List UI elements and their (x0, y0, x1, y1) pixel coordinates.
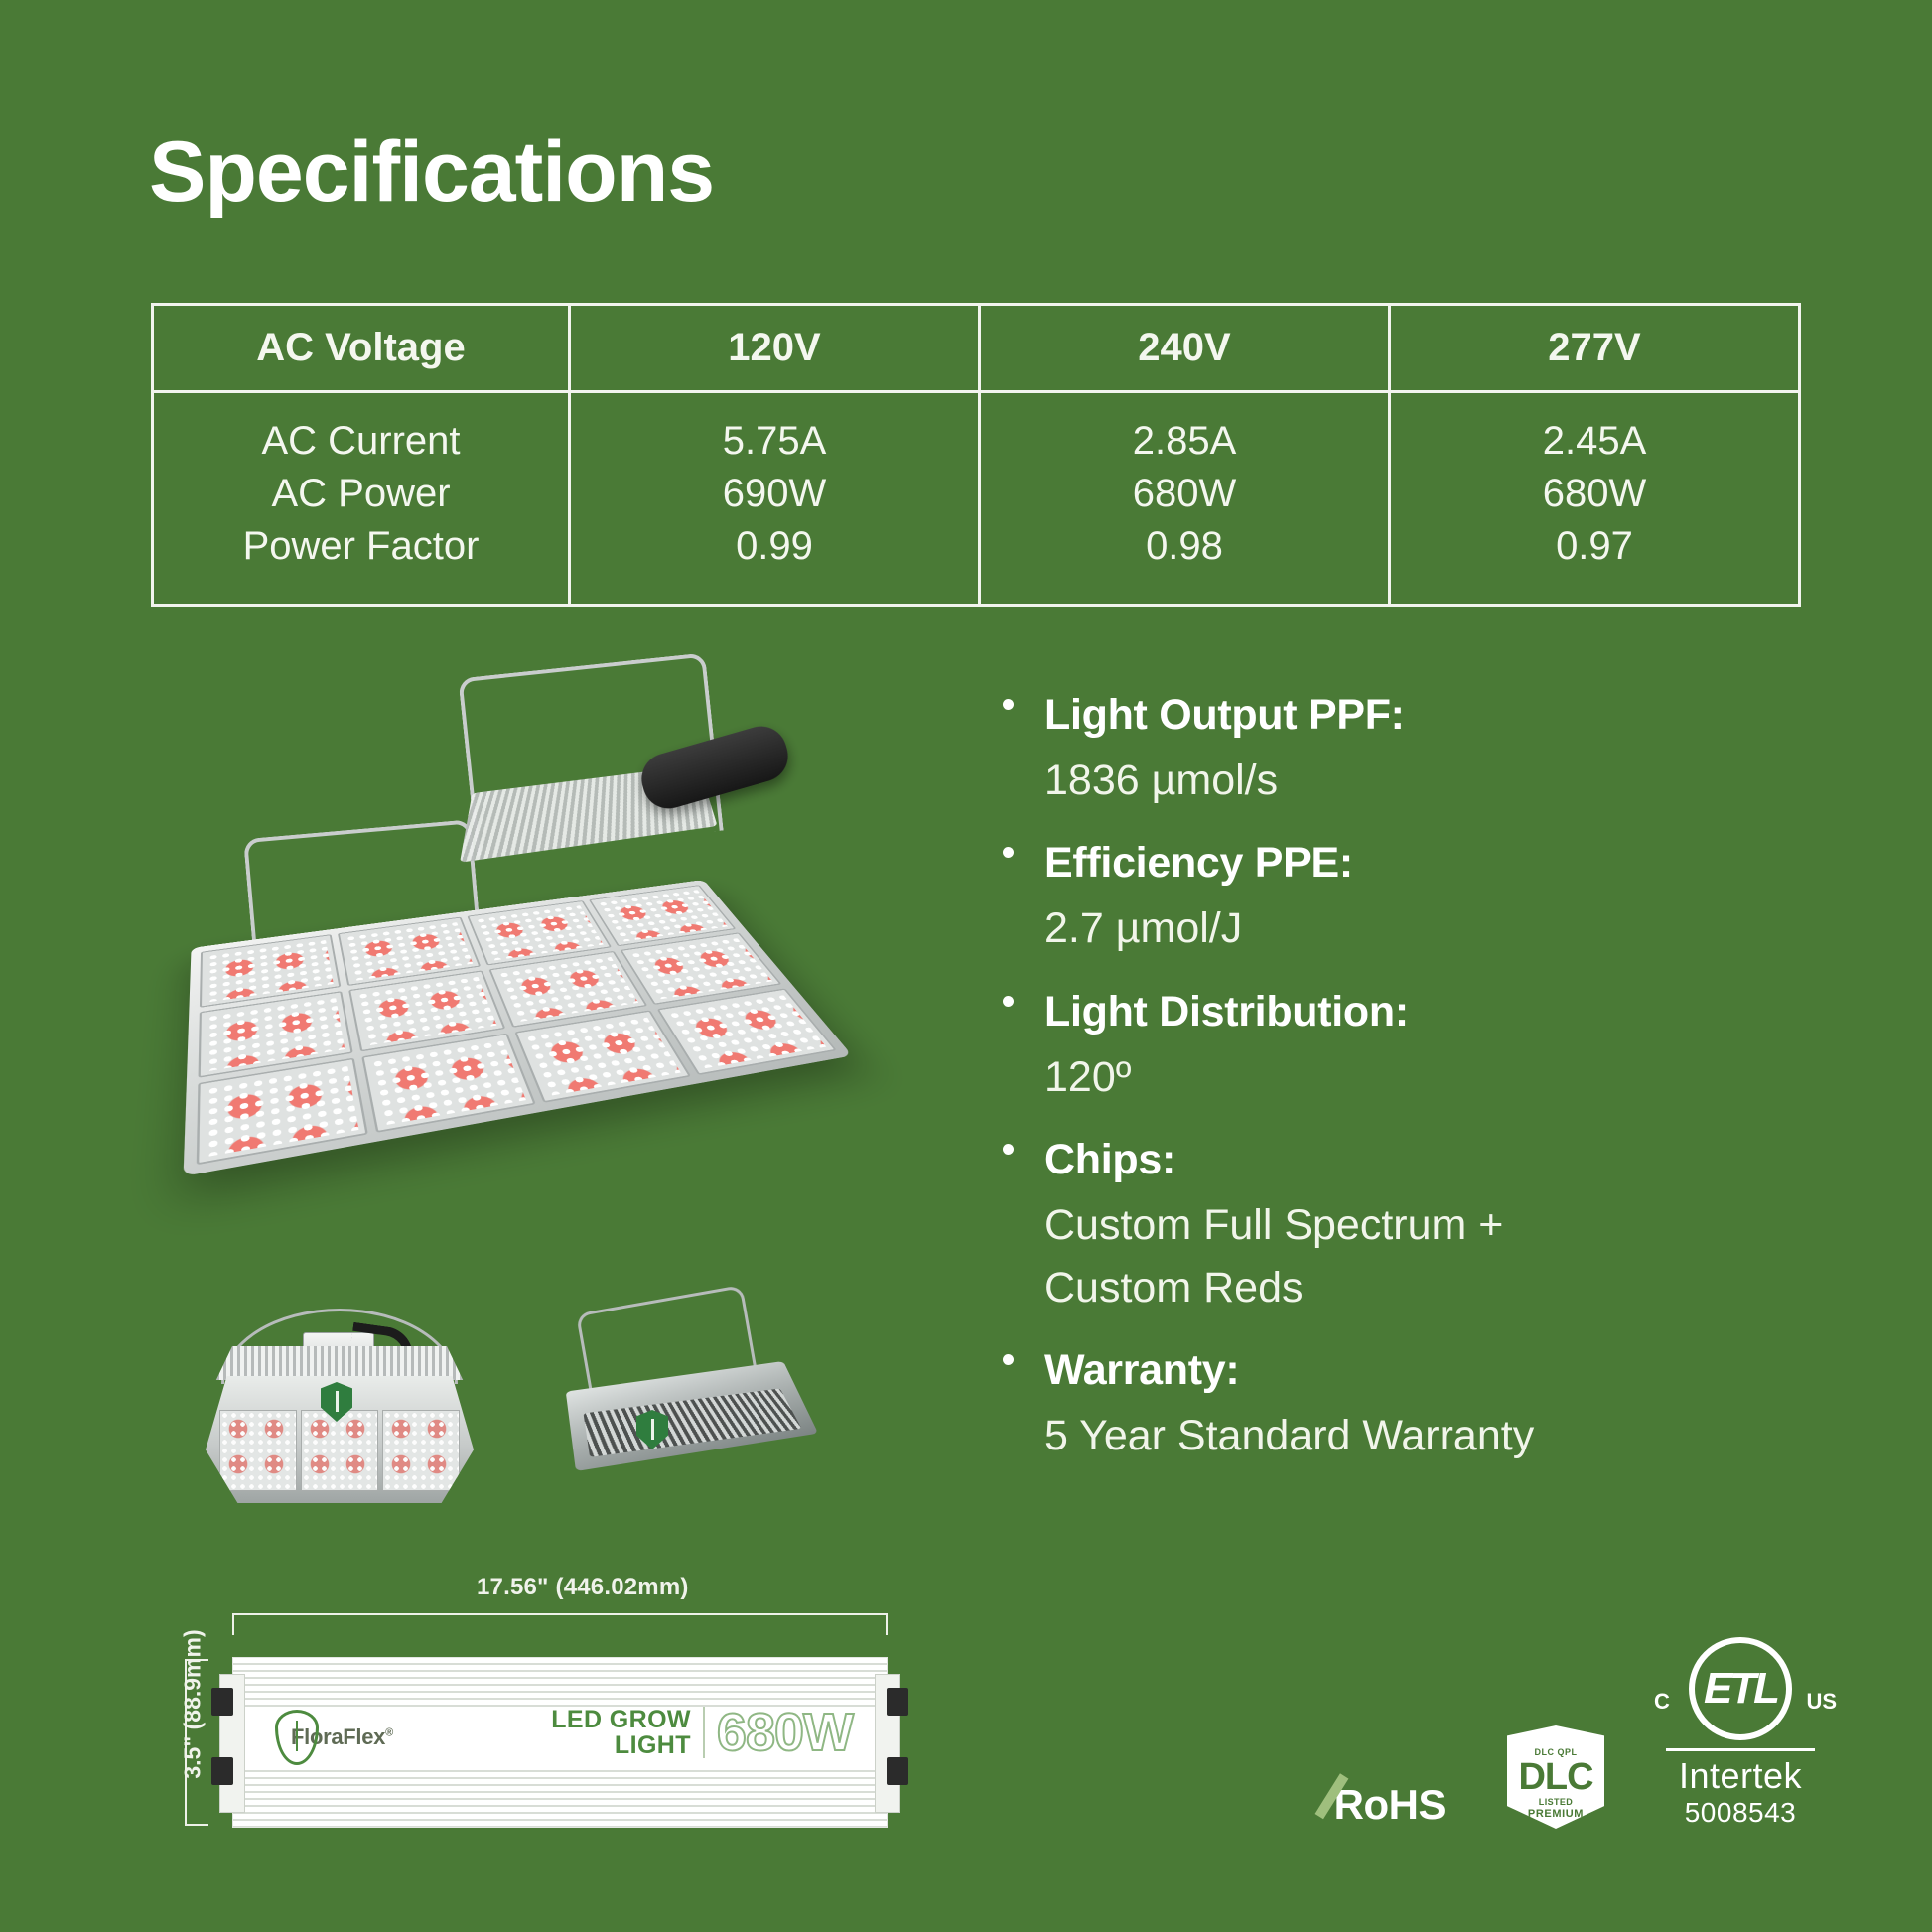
table-body-row: AC Current AC Power Power Factor 5.75A 6… (153, 392, 1800, 606)
header-277v: 277V (1390, 305, 1800, 392)
mounting-bolt (887, 1757, 908, 1785)
driver-fins-top (233, 1658, 887, 1708)
etl-us-mark: US (1806, 1689, 1837, 1715)
dlc-premium-text: PREMIUM (1528, 1808, 1584, 1820)
feature-value: 120º (1044, 1046, 1799, 1108)
header-120v: 120V (570, 305, 980, 392)
heat-sink-fins (206, 1346, 474, 1380)
led-grow-light-text: LED GROW LIGHT (551, 1707, 691, 1758)
feature-label: Warranty: (1044, 1340, 1799, 1401)
dlc-main-text: DLC (1518, 1758, 1592, 1796)
wattage-text: 680W (717, 1706, 853, 1759)
feature-list: Light Output PPF: 1836 µmol/s Efficiency… (1044, 685, 1799, 1488)
list-item-light-output: Light Output PPF: 1836 µmol/s (1044, 685, 1799, 811)
mounting-bolt (887, 1688, 908, 1716)
product-photo-front-view (184, 1291, 491, 1519)
dlc-listed-text: LISTED (1539, 1797, 1573, 1807)
bullet-icon (1003, 1354, 1014, 1365)
intertek-number: 5008543 (1666, 1797, 1815, 1829)
feature-value: Custom Full Spectrum + Custom Reds (1044, 1194, 1799, 1318)
specifications-table: AC Voltage 120V 240V 277V AC Current AC … (151, 303, 1801, 607)
dimension-width-label: 17.56" (446.02mm) (477, 1574, 689, 1601)
bullet-icon (1003, 1144, 1014, 1155)
cell-values-120v: 5.75A 690W 0.99 (570, 392, 980, 606)
list-item-light-distribution: Light Distribution: 120º (1044, 982, 1799, 1108)
feature-value: 1836 µmol/s (1044, 750, 1799, 811)
cell-values-277v: 2.45A 680W 0.97 (1390, 392, 1800, 606)
etl-c-mark: C (1654, 1689, 1670, 1715)
product-photo-side-view (541, 1291, 829, 1519)
certification-badges: RoHS DLC QPL DLC LISTED PREMIUM C US ETL… (1334, 1637, 1815, 1829)
list-item-chips: Chips: Custom Full Spectrum + Custom Red… (1044, 1130, 1799, 1318)
rohs-badge: RoHS (1334, 1781, 1446, 1829)
page-title: Specifications (149, 129, 714, 214)
feature-label: Efficiency PPE: (1044, 833, 1799, 894)
feature-value: 2.7 µmol/J (1044, 897, 1799, 959)
led-panel (514, 1011, 692, 1103)
mounting-bolt (211, 1688, 233, 1716)
dlc-premium-badge: DLC QPL DLC LISTED PREMIUM (1507, 1725, 1604, 1829)
etl-logo-icon: ETL (1689, 1637, 1792, 1740)
bullet-icon (1003, 996, 1014, 1007)
product-photo-hero (139, 655, 854, 1311)
led-panel (361, 1034, 535, 1133)
cell-values-240v: 2.85A 680W 0.98 (980, 392, 1390, 606)
led-panel (657, 989, 837, 1075)
led-panel (219, 1410, 297, 1491)
floraflex-logo: FloraFlex® (275, 1710, 393, 1765)
dimension-width-bracket (232, 1613, 888, 1635)
driver-fins-bottom (233, 1765, 887, 1827)
feature-label: Light Output PPF: (1044, 685, 1799, 746)
cell-row-labels: AC Current AC Power Power Factor (153, 392, 570, 606)
list-item-efficiency: Efficiency PPE: 2.7 µmol/J (1044, 833, 1799, 959)
table-header-row: AC Voltage 120V 240V 277V (153, 305, 1800, 392)
led-panel (197, 1058, 368, 1165)
divider (703, 1707, 705, 1758)
list-item-warranty: Warranty: 5 Year Standard Warranty (1044, 1340, 1799, 1466)
bullet-icon (1003, 699, 1014, 710)
led-panel (382, 1410, 460, 1491)
rohs-label: RoHS (1334, 1781, 1446, 1829)
intertek-label: Intertek (1666, 1755, 1815, 1797)
etl-intertek-badge: C US ETL Intertek 5008543 (1666, 1637, 1815, 1829)
driver-product-render: FloraFlex® LED GROW LIGHT 680W (232, 1657, 888, 1828)
mounting-bolt (211, 1757, 233, 1785)
header-ac-voltage: AC Voltage (153, 305, 570, 392)
feature-label: Chips: (1044, 1130, 1799, 1190)
leaf-icon (275, 1710, 319, 1765)
divider (1666, 1748, 1815, 1751)
feature-label: Light Distribution: (1044, 982, 1799, 1042)
driver-model-label: LED GROW LIGHT 680W (551, 1706, 853, 1759)
dimension-height-label: 3.5" (88.9mm) (180, 1615, 207, 1794)
led-panel (301, 1410, 378, 1491)
header-240v: 240V (980, 305, 1390, 392)
feature-value: 5 Year Standard Warranty (1044, 1405, 1799, 1466)
dimension-diagram: 17.56" (446.02mm) 3.5" (88.9mm) FloraFle… (149, 1574, 973, 1832)
bullet-icon (1003, 847, 1014, 858)
